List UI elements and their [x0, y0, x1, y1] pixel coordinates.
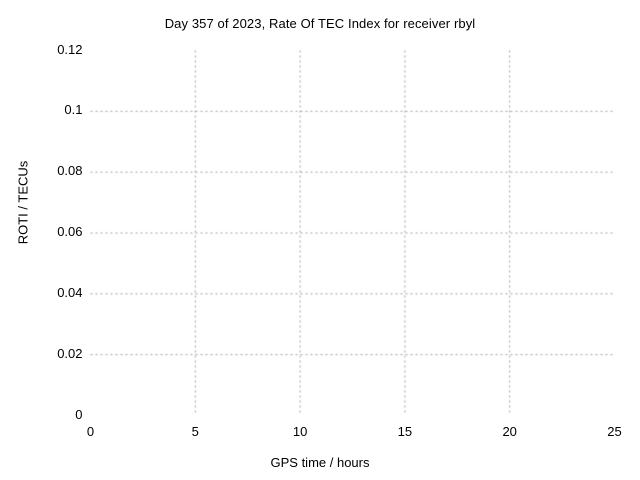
x-axis-label: GPS time / hours	[0, 455, 640, 470]
x-tick-label: 10	[270, 424, 330, 439]
y-tick-label: 0.1	[64, 102, 82, 117]
y-tick-label: 0.08	[57, 163, 82, 178]
x-tick-label: 20	[480, 424, 540, 439]
scatter-plot-canvas	[0, 0, 640, 480]
x-tick-label: 5	[165, 424, 225, 439]
y-tick-label: 0.04	[57, 285, 82, 300]
y-axis-label: ROTI / TECUs	[16, 143, 31, 263]
chart-page: Day 357 of 2023, Rate Of TEC Index for r…	[0, 0, 640, 480]
x-tick-label: 25	[585, 424, 640, 439]
y-tick-label: 0.06	[57, 224, 82, 239]
y-tick-label: 0	[75, 407, 82, 422]
x-tick-label: 0	[61, 424, 121, 439]
x-tick-label: 15	[375, 424, 435, 439]
y-tick-label: 0.12	[57, 42, 82, 57]
y-tick-label: 0.02	[57, 346, 82, 361]
